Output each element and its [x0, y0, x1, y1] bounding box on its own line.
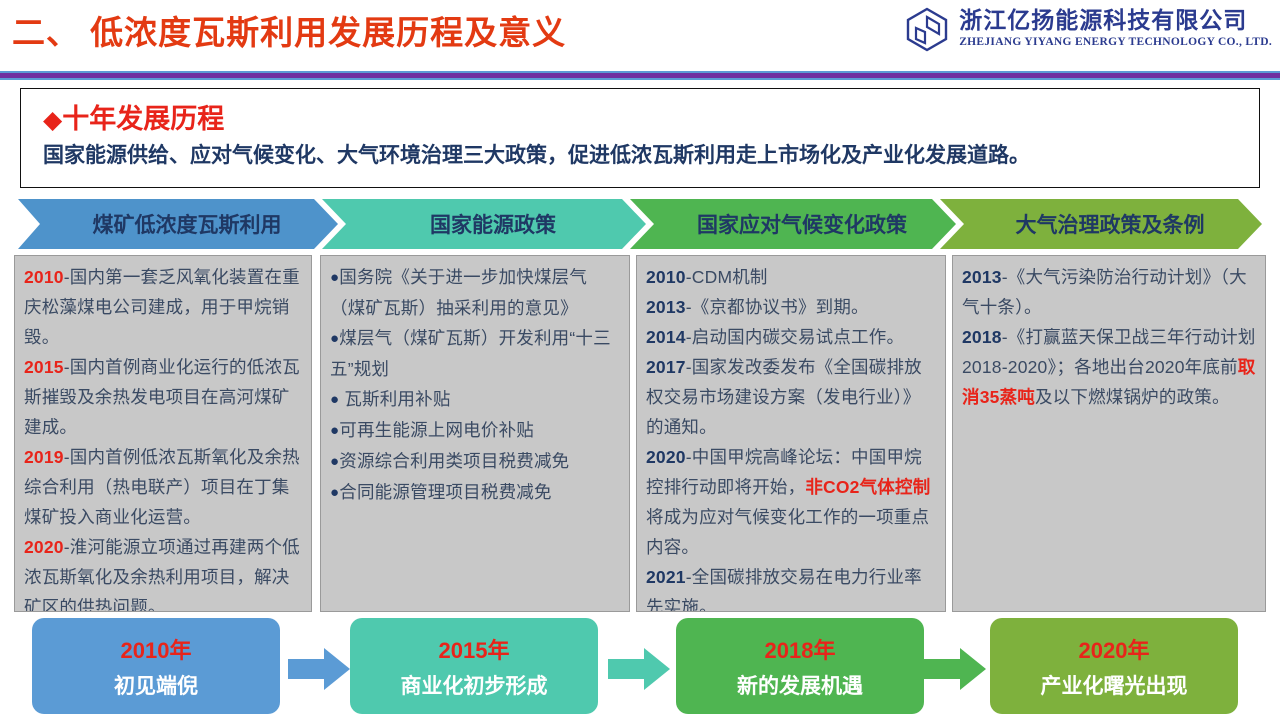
content-panels: 2010-国内第一套乏风氧化装置在重庆松藻煤电公司建成，用于甲烷销毁。2015-… [14, 255, 1266, 612]
right-arrow-icon-2 [924, 648, 986, 690]
chevron-label-0: 煤矿低浓度瓦斯利用 [93, 209, 282, 239]
content-panel-1: ●国务院《关于进一步加快煤层气（煤矿瓦斯）抽采利用的意见》●煤层气（煤矿瓦斯）开… [320, 255, 630, 612]
milestone-card-1[interactable]: 2015年 商业化初步形成 [350, 618, 598, 714]
red-diamond-icon: ◆ [43, 106, 62, 134]
milestone-card-2[interactable]: 2018年 新的发展机遇 [676, 618, 924, 714]
milestone-card-3[interactable]: 2020年 产业化曙光出现 [990, 618, 1238, 714]
chevron-band: 煤矿低浓度瓦斯利用 国家能源政策 国家应对气候变化政策 大气治理政策及条例 [18, 199, 1262, 249]
chevron-header-3[interactable]: 大气治理政策及条例 [940, 199, 1262, 249]
panel-text-0: 2010-国内第一套乏风氧化装置在重庆松藻煤电公司建成，用于甲烷销毁。2015-… [24, 262, 304, 612]
company-name-cn: 浙江亿扬能源科技有限公司 [959, 9, 1272, 32]
chevron-header-0[interactable]: 煤矿低浓度瓦斯利用 [18, 199, 338, 249]
slide-root: 二、 低浓度瓦斯利用发展历程及意义 浙江亿扬能源科技有限公司 ZHEJIANG … [0, 0, 1280, 720]
right-arrow-icon-1 [608, 648, 670, 690]
chevron-label-3: 大气治理政策及条例 [1016, 209, 1205, 239]
callout-heading-text: 十年发展历程 [62, 104, 224, 134]
panel-text-3: 2013-《大气污染防治行动计划》（大气十条）。2018-《打赢蓝天保卫战三年行… [962, 262, 1258, 412]
panel-text-2: 2010-CDM机制2013-《京都协议书》到期。2014-启动国内碳交易试点工… [646, 262, 938, 612]
milestone-year-3: 2020年 [1079, 633, 1150, 665]
callout-frame: ◆十年发展历程 国家能源供给、应对气候变化、大气环境治理三大政策，促进低浓瓦斯利… [20, 88, 1260, 188]
page-title: 二、 低浓度瓦斯利用发展历程及意义 [12, 6, 566, 54]
milestone-label-2: 新的发展机遇 [737, 670, 863, 700]
company-logo: 浙江亿扬能源科技有限公司 ZHEJIANG YIYANG ENERGY TECH… [904, 6, 1272, 52]
chevron-label-2: 国家应对气候变化政策 [697, 209, 907, 239]
milestone-year-2: 2018年 [765, 633, 836, 665]
content-panel-0: 2010-国内第一套乏风氧化装置在重庆松藻煤电公司建成，用于甲烷销毁。2015-… [14, 255, 312, 612]
right-arrow-icon-0 [288, 648, 350, 690]
panel-text-1: ●国务院《关于进一步加快煤层气（煤矿瓦斯）抽采利用的意见》●煤层气（煤矿瓦斯）开… [330, 262, 622, 508]
chevron-header-1[interactable]: 国家能源政策 [322, 199, 646, 249]
slide-header: 二、 低浓度瓦斯利用发展历程及意义 浙江亿扬能源科技有限公司 ZHEJIANG … [0, 0, 1280, 66]
milestone-card-0[interactable]: 2010年 初见端倪 [32, 618, 280, 714]
chevron-header-2[interactable]: 国家应对气候变化政策 [630, 199, 956, 249]
milestone-label-3: 产业化曙光出现 [1041, 670, 1188, 700]
callout-heading: ◆十年发展历程 [43, 97, 224, 136]
hexagon-cube-logo-icon [904, 6, 950, 52]
milestone-label-1: 商业化初步形成 [401, 670, 548, 700]
milestone-year-1: 2015年 [439, 633, 510, 665]
milestone-label-0: 初见端倪 [114, 670, 198, 700]
callout-subtitle: 国家能源供给、应对气候变化、大气环境治理三大政策，促进低浓瓦斯利用走上市场化及产… [43, 139, 1030, 169]
milestone-year-0: 2010年 [121, 633, 192, 665]
milestone-row: 2010年 初见端倪 2015年 商业化初步形成 2018年 新的发展机遇 20… [0, 618, 1280, 718]
content-panel-2: 2010-CDM机制2013-《京都协议书》到期。2014-启动国内碳交易试点工… [636, 255, 946, 612]
content-panel-3: 2013-《大气污染防治行动计划》（大气十条）。2018-《打赢蓝天保卫战三年行… [952, 255, 1266, 612]
header-divider-bottom [0, 78, 1280, 80]
chevron-label-1: 国家能源政策 [430, 209, 556, 239]
company-name-en: ZHEJIANG YIYANG ENERGY TECHNOLOGY CO., L… [959, 37, 1272, 49]
